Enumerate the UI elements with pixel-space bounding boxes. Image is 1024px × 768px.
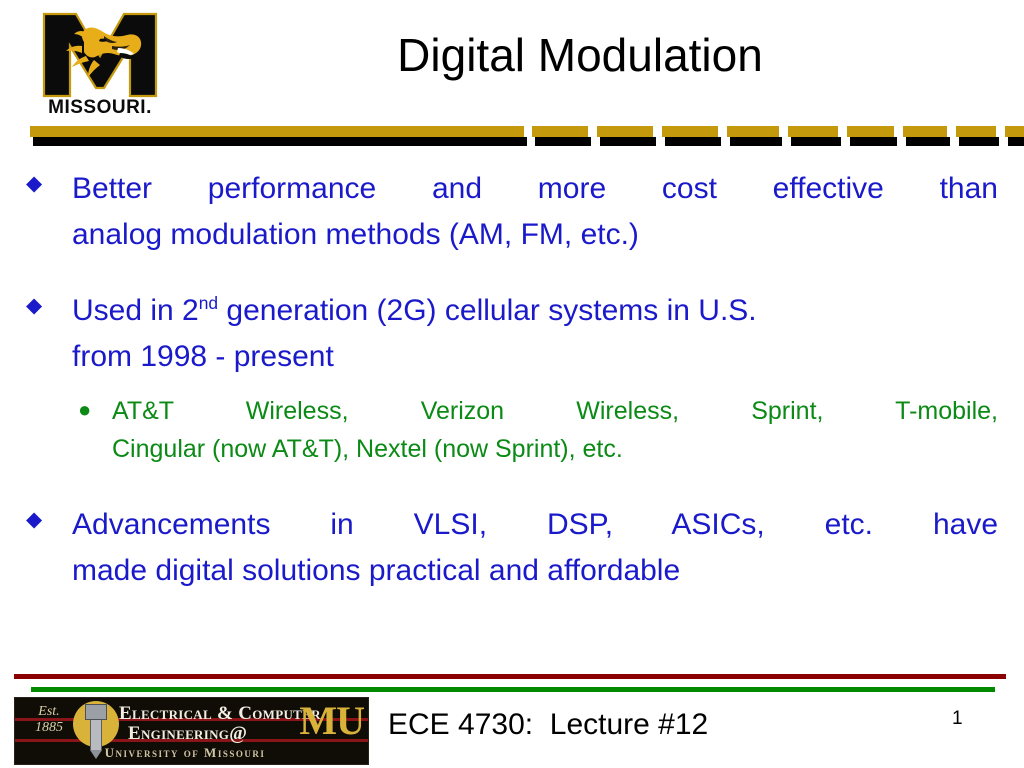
rule-gold-bar [788,126,838,137]
university-label: University of Missouri [15,745,355,761]
logo-line-2-text: Engineering [128,723,229,744]
mizzou-wordmark: MISSOURI. [36,98,164,118]
bolt-head [85,704,107,720]
logo-line-2: Engineering@ [128,723,247,745]
rule-gold-bar [30,126,524,137]
rule-black-bar [959,137,999,146]
bullet-line: Used in 2nd generation (2G) cellular sys… [72,288,998,334]
rule-black-bar [850,137,897,146]
ordinal-superscript: nd [199,293,218,313]
bullet-line: made digital solutions practical and aff… [72,548,998,594]
logo-line-1: Electrical & Computer [119,703,321,725]
header-divider-rule [0,126,1024,150]
sub-bullet-text-1: AT&T Wireless, Verizon Wireless, Sprint,… [112,392,998,468]
rule-black-bar [600,137,656,146]
ece-department-logo: Est. 1885 Electrical & Computer Engineer… [14,697,369,765]
bullet-item-3: ◆ Advancements in VLSI, DSP, ASICs, etc.… [26,502,998,594]
mizzou-logo: MISSOURI. [36,12,164,124]
bullet-item-1: ◆ Better performance and more cost effec… [26,166,998,258]
rule-black-bar [535,137,591,146]
diamond-bullet-icon: ◆ [26,295,48,316]
bullet-line: Better performance and more cost effecti… [72,166,998,212]
rule-gold-bar [597,126,653,137]
slide-number: 1 [952,708,963,730]
rule-gold-bar [662,126,718,137]
bullet-line-post: generation (2G) cellular systems in U.S. [218,294,757,327]
bullet-text-3: Advancements in VLSI, DSP, ASICs, etc. h… [72,502,998,594]
course-label: ECE 4730: Lecture #12 [388,708,708,742]
est-year: 1885 [35,720,63,735]
slide-content: ◆ Better performance and more cost effec… [0,160,1024,660]
bullet-line-pre: Used in 2 [72,294,199,327]
rule-black-bar [730,137,782,146]
bullet-line: Advancements in VLSI, DSP, ASICs, etc. h… [72,502,998,548]
footer-green-rule [31,687,995,692]
slide-footer: Est. 1885 Electrical & Computer Engineer… [0,660,1024,768]
rule-black-bar [791,137,841,146]
mu-mark: MU [299,700,364,742]
footer-red-rule [14,674,1006,679]
est-word: Est. [38,704,59,719]
bullet-text-1: Better performance and more cost effecti… [72,166,998,258]
rule-black-bar [665,137,721,146]
diamond-bullet-icon: ◆ [26,509,48,530]
page-title: Digital Modulation [190,28,970,82]
bullet-line: Cingular (now AT&T), Nextel (now Sprint)… [112,430,998,468]
round-bullet-icon: ● [78,400,96,420]
bullet-item-2: ◆ Used in 2nd generation (2G) cellular s… [26,288,998,380]
bullet-line: from 1998 - present [72,334,998,380]
rule-gold-bar [903,126,947,137]
rule-gold-bar [1005,126,1024,137]
rule-gold-bar [847,126,894,137]
mizzou-m-tiger-icon [42,12,158,98]
rule-black-bar [33,137,527,146]
diamond-bullet-icon: ◆ [26,173,48,194]
slide-header: MISSOURI. Digital Modulation [0,0,1024,150]
bullet-text-2: Used in 2nd generation (2G) cellular sys… [72,288,998,380]
sub-bullet-item-1: ● AT&T Wireless, Verizon Wireless, Sprin… [78,392,998,468]
at-symbol: @ [229,723,247,744]
established-label: Est. 1885 [21,704,77,736]
bullet-line: analog modulation methods (AM, FM, etc.) [72,212,998,258]
rule-black-bar [1008,137,1024,146]
rule-gold-bar [956,126,996,137]
rule-gold-bar [727,126,779,137]
rule-black-bar [906,137,950,146]
bullet-line: AT&T Wireless, Verizon Wireless, Sprint,… [112,392,998,430]
rule-gold-bar [532,126,588,137]
